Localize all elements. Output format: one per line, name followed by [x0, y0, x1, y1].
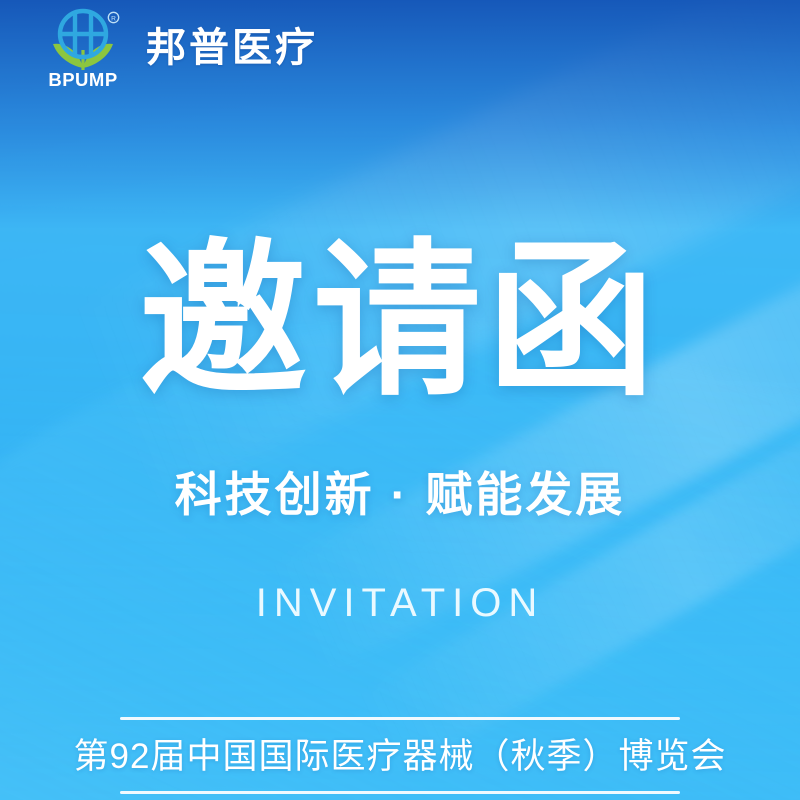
tagline: 科技创新 · 赋能发展	[0, 469, 800, 521]
invitation-poster: R BPUMP 邦普医疗 邀请函 科技创新 · 赋能发展 INVITATION …	[0, 0, 800, 800]
registered-trademark-icon: R	[108, 12, 118, 22]
brand-name: 邦普医疗	[146, 28, 318, 68]
event-name: 第92届中国国际医疗器械（秋季）博览会	[74, 720, 727, 791]
bpump-flower-logo-icon: R BPUMP	[42, 6, 124, 90]
brand-lockup: R BPUMP 邦普医疗	[42, 6, 318, 90]
logo-wordmark: BPUMP	[48, 69, 117, 90]
page-title: 邀请函	[0, 236, 800, 407]
footer: 第92届中国国际医疗器械（秋季）博览会	[0, 717, 800, 794]
divider-bottom	[120, 791, 680, 794]
english-subtitle: INVITATION	[0, 583, 800, 623]
main-content: 邀请函 科技创新 · 赋能发展 INVITATION	[0, 236, 800, 623]
svg-text:R: R	[111, 15, 116, 22]
